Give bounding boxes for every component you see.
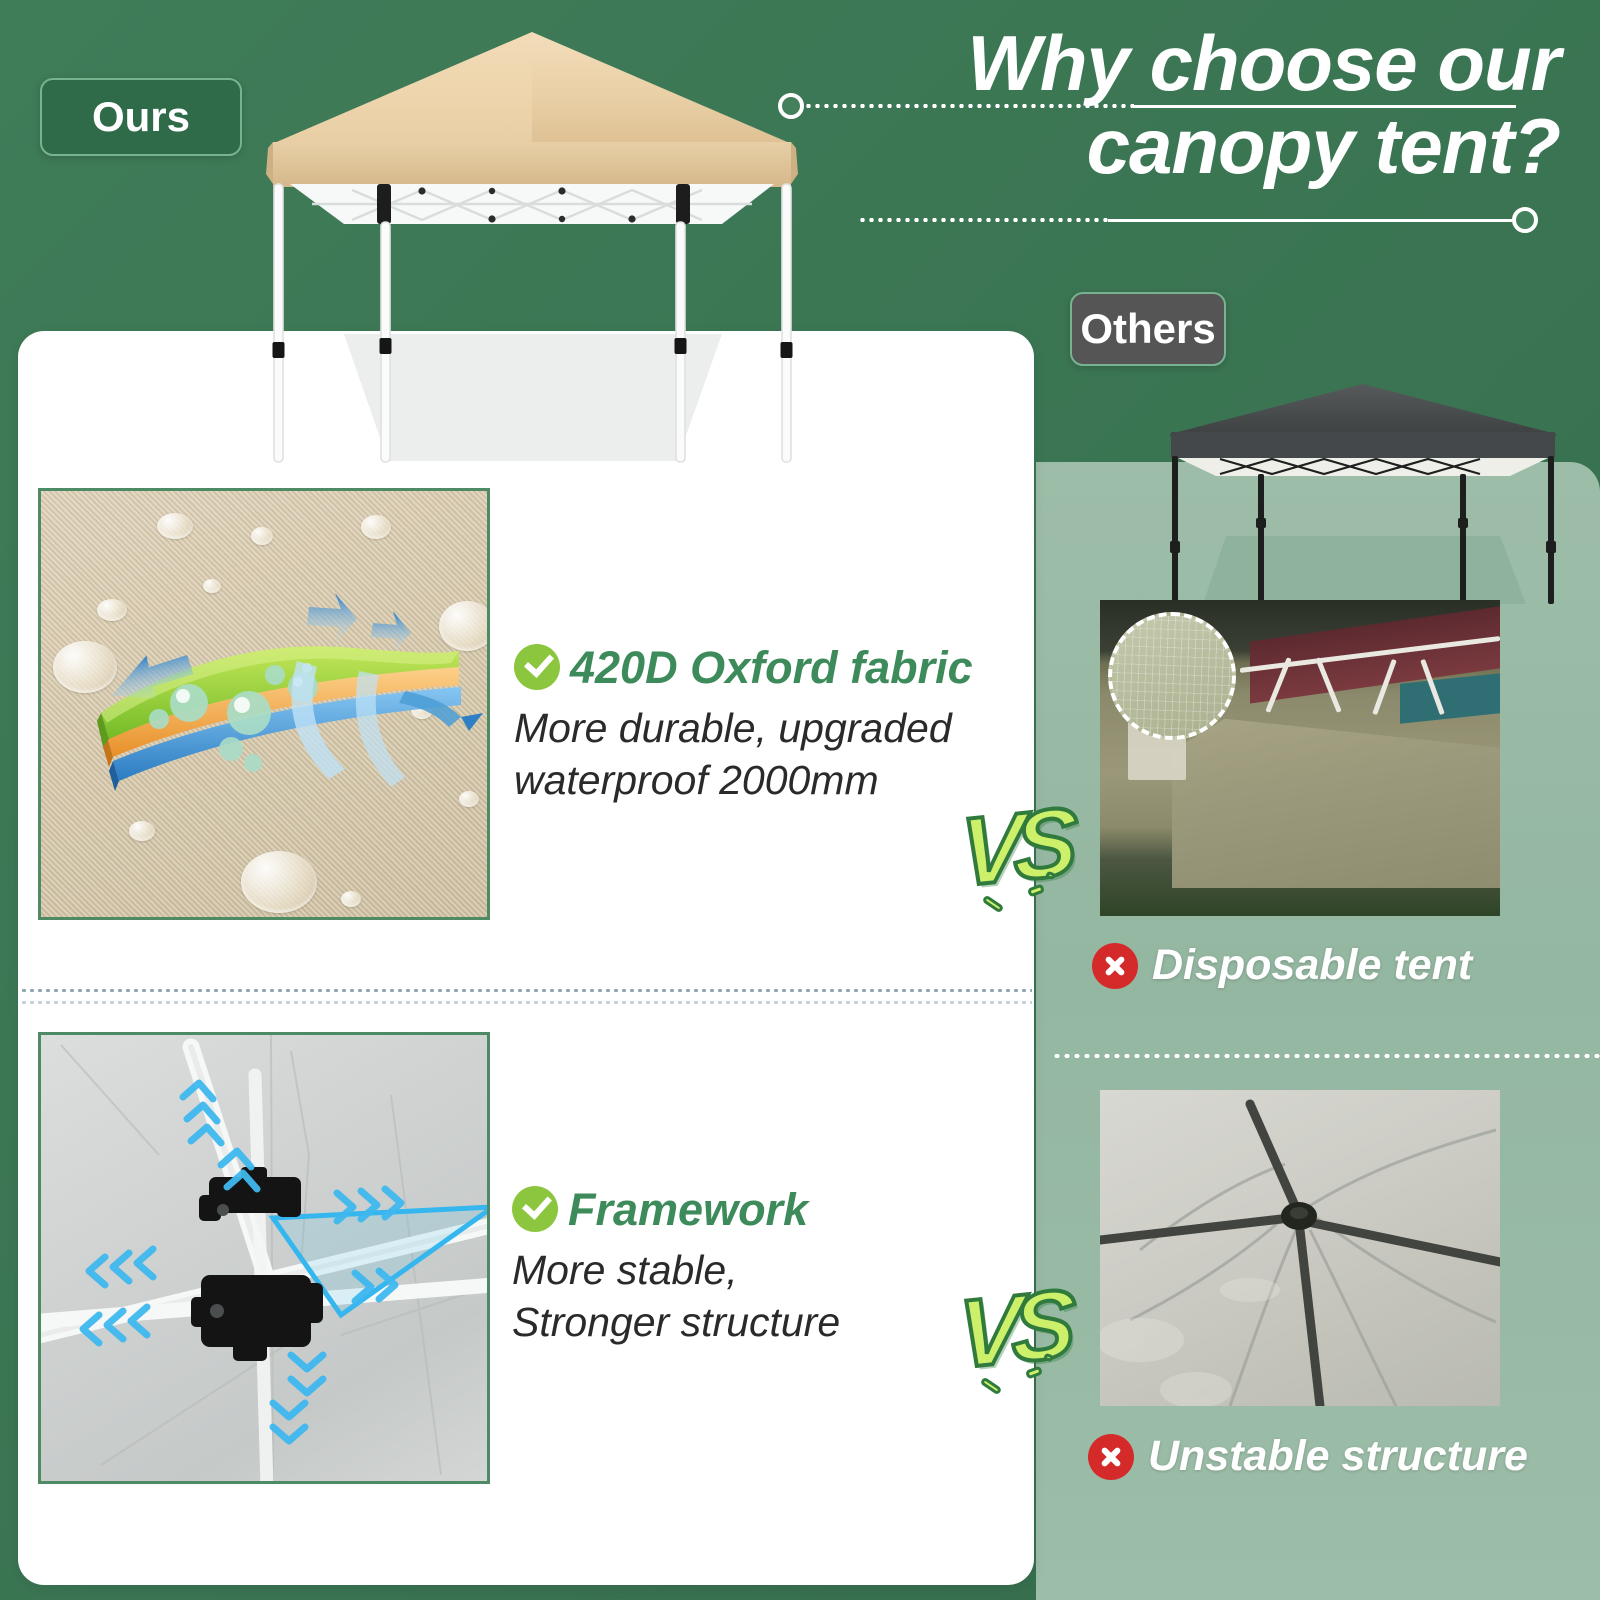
title-rule-top — [778, 104, 1516, 108]
feature-heading-row: Framework — [512, 1186, 942, 1232]
rule-solid — [1108, 219, 1512, 222]
check-circle-icon — [514, 644, 560, 690]
check-circle-icon — [512, 1186, 558, 1232]
card-divider-secondary — [20, 1001, 1032, 1004]
rule-knob-right-icon — [1512, 207, 1538, 233]
others-panel-divider — [1052, 1054, 1600, 1058]
others-label-disposable-tent: Disposable tent — [1092, 941, 1472, 990]
rule-dots — [804, 104, 1134, 108]
waterproof-fabric-layers-image — [38, 488, 490, 920]
vs-marker-bottom: VS — [958, 1276, 1065, 1384]
feature-framework: Framework More stable, Stronger structur… — [512, 1186, 942, 1349]
vs-marker-top: VS — [960, 794, 1067, 902]
x-circle-icon — [1088, 1434, 1134, 1480]
feature-body: More durable, upgraded waterproof 2000mm — [514, 702, 1034, 807]
rule-dots — [858, 218, 1108, 222]
collapsed-tarp-tent-photo — [1100, 600, 1500, 916]
feature-heading: Framework — [568, 1187, 808, 1232]
page-title-line-1: Why choose our — [800, 22, 1560, 105]
tent-frame-connector-image — [38, 1032, 490, 1484]
ours-canopy-tent-image — [252, 24, 812, 474]
rule-knob-left-icon — [778, 93, 804, 119]
x-circle-icon — [1092, 943, 1138, 989]
feature-heading-row: 420D Oxford fabric — [514, 644, 1034, 690]
title-rule-bottom — [858, 218, 1538, 222]
canopy-interior-frame-photo — [1100, 1090, 1500, 1406]
feature-heading: 420D Oxford fabric — [570, 645, 973, 690]
card-divider-primary — [20, 989, 1032, 992]
others-canopy-tent-image — [1148, 366, 1578, 611]
others-label-text: Disposable tent — [1152, 941, 1472, 990]
zoom-circle-overlay — [1108, 612, 1236, 740]
others-label-text: Unstable structure — [1148, 1432, 1528, 1481]
feature-420d-oxford-fabric: 420D Oxford fabric More durable, upgrade… — [514, 644, 1034, 807]
page-title-line-2: canopy tent? — [800, 105, 1560, 188]
feature-body: More stable, Stronger structure — [512, 1244, 942, 1349]
rule-solid — [1134, 105, 1516, 108]
badge-others: Others — [1070, 292, 1226, 366]
badge-ours: Ours — [40, 78, 242, 156]
others-label-unstable-structure: Unstable structure — [1088, 1432, 1528, 1481]
